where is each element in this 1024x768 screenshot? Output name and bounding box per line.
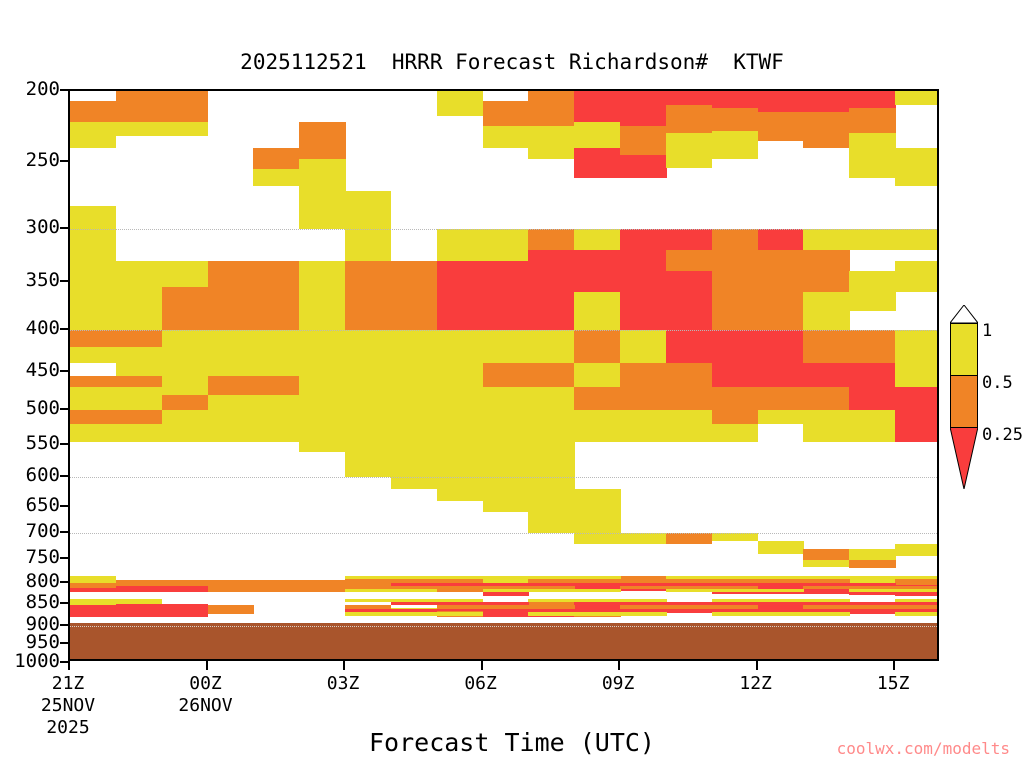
gridline: [70, 626, 937, 628]
y-axis-tick-label: 400: [26, 317, 60, 339]
colorbar-band[interactable]: [950, 375, 978, 427]
x-axis-tick-label: 03Z: [327, 673, 360, 695]
terrain-fill: [70, 91, 937, 659]
x-axis-tick-mark: [343, 661, 345, 670]
y-axis-tick-mark: [60, 227, 68, 229]
plot-area[interactable]: [68, 89, 939, 661]
colorbar-tick-label: 0.5: [982, 373, 1013, 393]
y-axis-tick-mark: [60, 408, 68, 410]
y-axis-tick-mark: [60, 557, 68, 559]
x-axis-tick-label: 06Z: [464, 673, 497, 695]
y-axis-tick-mark: [60, 505, 68, 507]
y-axis-tick-label: 800: [26, 570, 60, 592]
y-axis-tick-mark: [60, 443, 68, 445]
x-axis-tick-mark: [893, 661, 895, 670]
colorbar-under-arrow: [950, 427, 978, 489]
y-axis-tick-label: 600: [26, 464, 60, 486]
x-axis-tick-mark: [618, 661, 620, 670]
y-axis-tick-mark: [60, 370, 68, 372]
y-axis-tick-label: 700: [26, 520, 60, 542]
y-axis-tick-label: 200: [26, 78, 60, 100]
y-axis-tick-label: 650: [26, 494, 60, 516]
x-axis-tick-label: 15Z: [877, 673, 910, 695]
watermark: coolwx.com/modelts: [837, 739, 1010, 758]
y-axis-tick-mark: [60, 531, 68, 533]
y-axis-tick-mark: [60, 280, 68, 282]
chart-root: 2025112521 HRRR Forecast Richardson# KTW…: [0, 0, 1024, 768]
y-axis-tick-label: 500: [26, 397, 60, 419]
x-axis-tick-label: 12Z: [739, 673, 772, 695]
colorbar-tick-line: [950, 375, 978, 376]
y-axis-tick-label: 350: [26, 269, 60, 291]
x-axis-tick-mark: [756, 661, 758, 670]
y-axis-tick-mark: [60, 581, 68, 583]
colorbar-over-arrow-outline: [950, 305, 978, 323]
y-axis-tick-mark: [60, 160, 68, 162]
x-axis-tick-mark: [68, 661, 70, 670]
colorbar-legend[interactable]: 10.50.25: [941, 305, 981, 490]
y-axis-tick-label: 250: [26, 149, 60, 171]
y-axis-tick-label: 550: [26, 432, 60, 454]
y-axis-tick-label: 850: [26, 591, 60, 613]
x-axis-tick-mark: [206, 661, 208, 670]
y-axis-tick-mark: [60, 624, 68, 626]
y-axis-tick-mark: [60, 602, 68, 604]
y-axis-tick-label: 1000: [14, 650, 60, 672]
colorbar-tick-line: [950, 427, 978, 428]
colorbar-tick-label: 0.25: [982, 425, 1023, 445]
y-axis-tick-mark: [60, 328, 68, 330]
y-axis-tick-mark: [60, 475, 68, 477]
y-axis-tick-label: 750: [26, 546, 60, 568]
y-axis-tick-label: 300: [26, 216, 60, 238]
x-axis-tick-mark: [481, 661, 483, 670]
x-axis-tick-label: 09Z: [602, 673, 635, 695]
y-axis-tick-mark: [60, 642, 68, 644]
colorbar-tick-label: 1: [982, 321, 992, 341]
y-axis-tick-label: 450: [26, 359, 60, 381]
y-axis-labels: 2002503003504004505005506006507007508008…: [0, 0, 60, 768]
y-axis-tick-mark: [60, 661, 68, 663]
terrain-block: [70, 623, 937, 661]
x-axis-tick-label: 00Z26NOV: [178, 673, 232, 717]
page-title: 2025112521 HRRR Forecast Richardson# KTW…: [0, 50, 1024, 74]
colorbar-band[interactable]: [950, 323, 978, 375]
colorbar-tick-line: [950, 323, 978, 324]
y-axis-tick-mark: [60, 89, 68, 91]
